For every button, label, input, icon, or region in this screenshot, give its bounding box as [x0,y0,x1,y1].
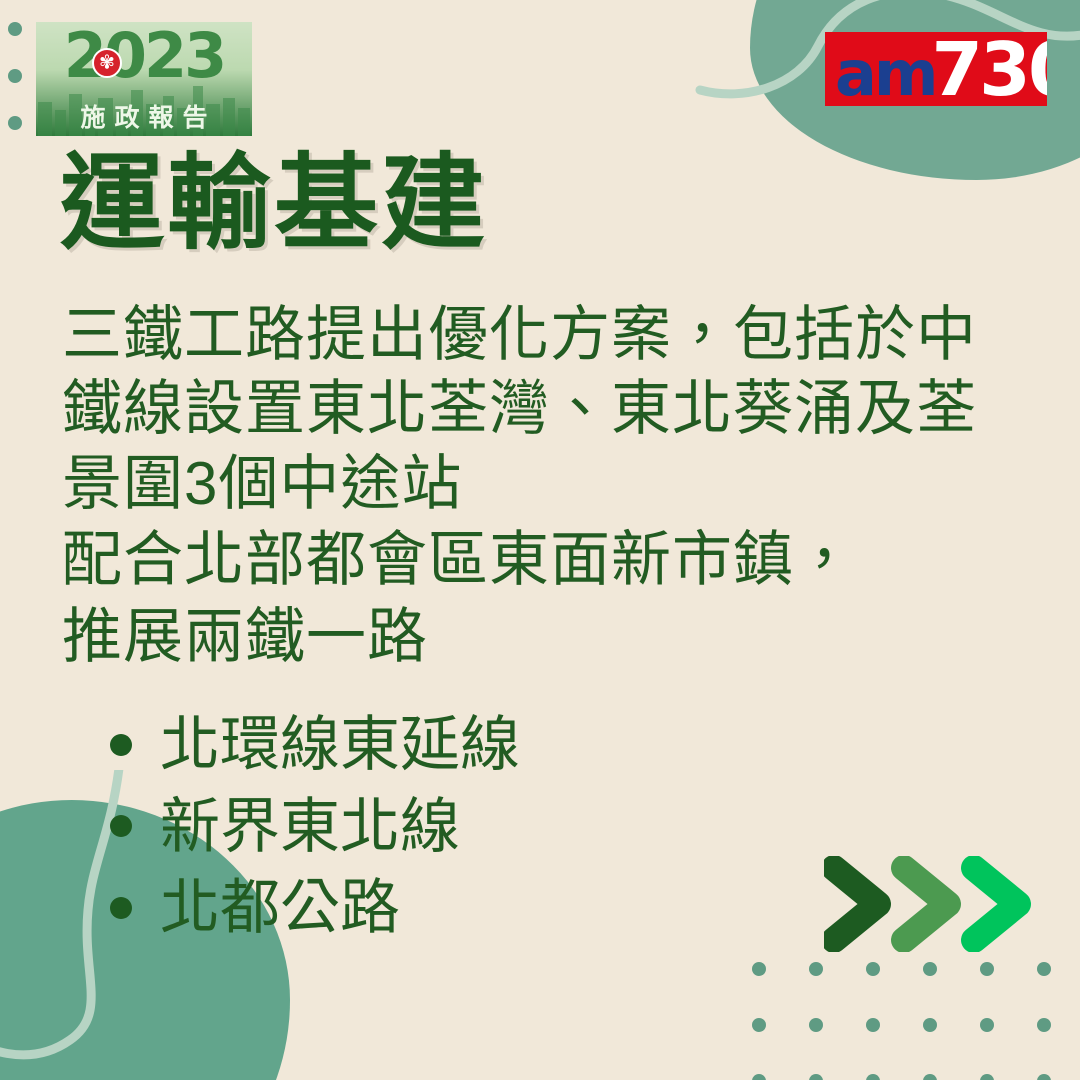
badge-label: 施政報告 [36,106,252,131]
list-item: 北環線東延線 [110,704,520,786]
chevron-right-icon [974,868,1018,940]
am730-logo-number-text: 730 [931,33,1047,106]
body-paragraph: 配合北部都會區東面新市鎮， [62,523,992,597]
body-paragraph: 三鐵工路提出優化方案，包括於中鐵線設置東北荃灣、東北葵涌及荃景圍3個中途站 [62,298,982,521]
decorative-dot [1037,1074,1051,1080]
page-title: 運輸基建 [60,148,488,260]
chevron-right-icon [834,868,878,940]
decorative-dot [923,1074,937,1080]
bullet-point-icon [110,815,132,837]
list-item-label: 新界東北線 [160,786,460,868]
list-item-label: 北環線東延線 [160,704,520,786]
am730-logo-am-text: am [835,43,935,105]
list-item: 新界東北線 [110,786,520,868]
infographic-card: 2023 施政報告 am 730 運輸基建 三鐵工路提出優化方案，包括於中鐵線設… [0,0,1080,1080]
decorative-dot [923,962,937,976]
decorative-dot [1037,1018,1051,1032]
bullet-point-icon [110,897,132,919]
list-item: 北都公路 [110,867,520,949]
decorative-dot [8,22,22,36]
decorative-dot [752,1074,766,1080]
decorative-dot [1037,962,1051,976]
decorative-dot [980,1018,994,1032]
decorative-dot-grid-bottom-right [752,962,1080,1080]
bullet-list: 北環線東延線 新界東北線 北都公路 [110,704,520,949]
decorative-dot [866,1074,880,1080]
hong-kong-bauhinia-emblem-icon [92,48,122,78]
chevron-right-icon [904,868,948,940]
list-item-label: 北都公路 [160,867,400,949]
body-copy: 三鐵工路提出優化方案，包括於中鐵線設置東北荃灣、東北葵涌及荃景圍3個中途站 配合… [62,298,992,676]
decorative-dot [980,1074,994,1080]
decorative-dot [809,962,823,976]
decorative-dot [809,1074,823,1080]
am730-logo: am 730 [825,32,1047,106]
bullet-point-icon [110,734,132,756]
decorative-dot [8,116,22,130]
decorative-dot [809,1018,823,1032]
decorative-dot [8,69,22,83]
decorative-dot [866,1018,880,1032]
body-paragraph: 推展兩鐵一路 [62,600,992,674]
decorative-dot [980,962,994,976]
badge-year: 2023 [36,22,252,94]
decorative-dot [866,962,880,976]
decorative-dot [752,962,766,976]
chevron-arrows-group [824,856,1044,952]
policy-address-badge: 2023 施政報告 [36,22,252,136]
decorative-dot [752,1018,766,1032]
decorative-dot [923,1018,937,1032]
